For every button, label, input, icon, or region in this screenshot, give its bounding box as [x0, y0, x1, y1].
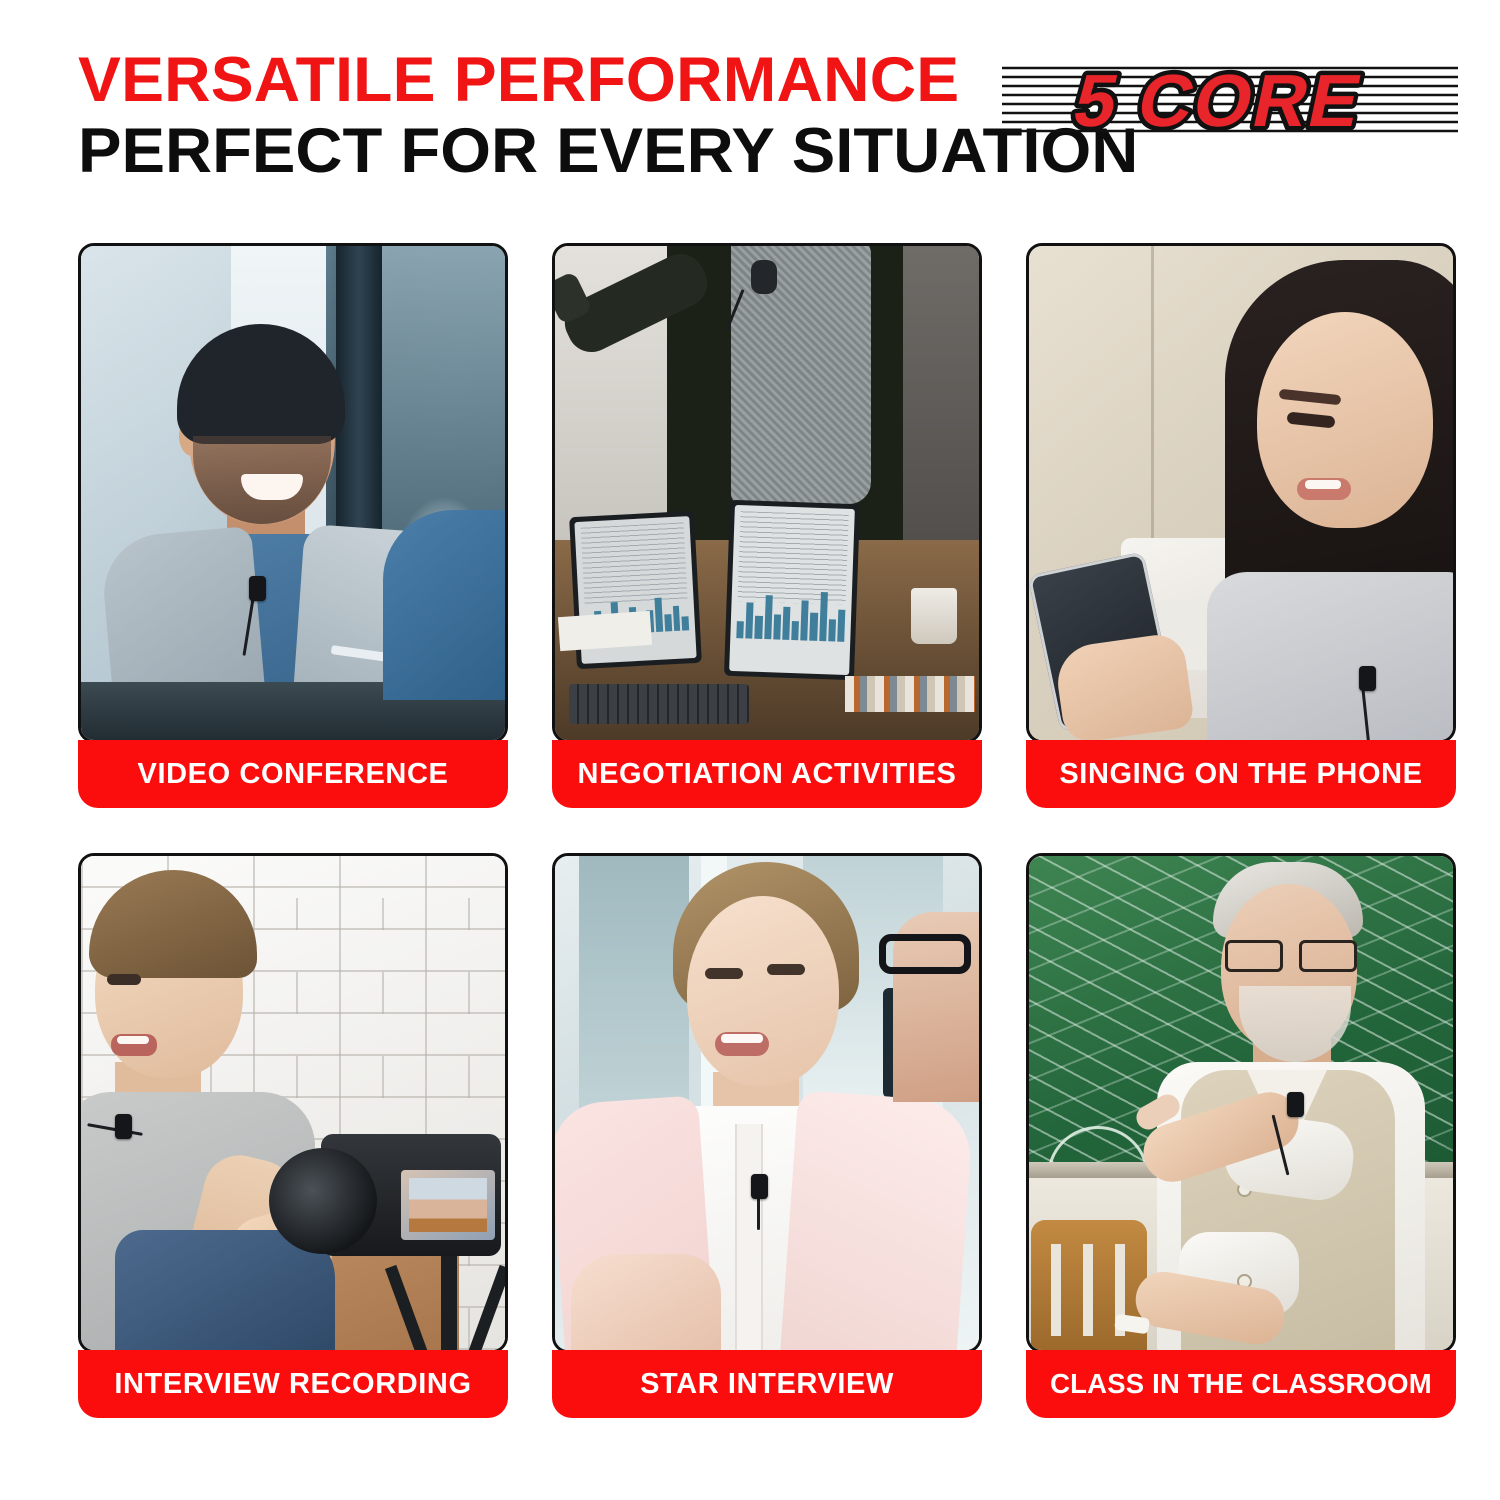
logo-word: CORE: [1131, 59, 1370, 142]
singing-on-the-phone-photo: [1026, 243, 1456, 743]
use-case-card[interactable]: SINGING ON THE PHONE: [1026, 243, 1456, 808]
caption-bar: INTERVIEW RECORDING: [78, 1350, 508, 1418]
scene-art: [555, 856, 979, 1350]
lavalier-mic-icon: [115, 1114, 132, 1139]
use-case-card[interactable]: CLASS IN THE CLASSROOM: [1026, 853, 1456, 1418]
use-case-card[interactable]: INTERVIEW RECORDING: [78, 853, 508, 1418]
lavalier-mic-icon: [751, 260, 777, 294]
lavalier-mic-icon: [249, 576, 266, 601]
interview-recording-photo: [78, 853, 508, 1353]
page-header: VERSATILE PERFORMANCE PERFECT FOR EVERY …: [0, 0, 1500, 215]
scene-art: [81, 856, 505, 1350]
caption-label: VIDEO CONFERENCE: [138, 758, 449, 791]
five-core-logo-icon: 5 CORE: [1000, 52, 1460, 152]
caption-bar: CLASS IN THE CLASSROOM: [1026, 1350, 1456, 1418]
logo-wordmark: 5 CORE: [1067, 59, 1370, 142]
use-case-card[interactable]: VIDEO CONFERENCE: [78, 243, 508, 808]
class-in-the-classroom-photo: [1026, 853, 1456, 1353]
caption-bar: STAR INTERVIEW: [552, 1350, 982, 1418]
scene-art: [555, 246, 979, 740]
caption-bar: VIDEO CONFERENCE: [78, 740, 508, 808]
use-case-card[interactable]: NEGOTIATION ACTIVITIES: [552, 243, 982, 808]
eyeglasses-icon: [879, 934, 971, 974]
lavalier-mic-icon: [1287, 1092, 1304, 1117]
lavalier-mic-icon: [751, 1174, 768, 1199]
caption-label: CLASS IN THE CLASSROOM: [1050, 1368, 1432, 1400]
scene-art: [1029, 856, 1453, 1350]
caption-bar: NEGOTIATION ACTIVITIES: [552, 740, 982, 808]
headline-primary: VERSATILE PERFORMANCE: [78, 48, 1001, 112]
caption-label: INTERVIEW RECORDING: [114, 1368, 471, 1401]
caption-bar: SINGING ON THE PHONE: [1026, 740, 1456, 808]
star-interview-photo: [552, 853, 982, 1353]
caption-label: STAR INTERVIEW: [640, 1368, 894, 1401]
headline-secondary: PERFECT FOR EVERY SITUATION: [78, 118, 1015, 184]
scene-art: [1029, 246, 1453, 740]
caption-label: SINGING ON THE PHONE: [1059, 758, 1422, 791]
logo-number: 5: [1067, 59, 1126, 142]
caption-label: NEGOTIATION ACTIVITIES: [578, 758, 957, 791]
eyeglasses-icon: [1225, 940, 1357, 966]
use-case-card[interactable]: STAR INTERVIEW: [552, 853, 982, 1418]
scene-art: [81, 246, 505, 740]
use-case-grid: VIDEO CONFERENCE: [78, 243, 1426, 1418]
video-conference-photo: [78, 243, 508, 743]
negotiation-activities-photo: [552, 243, 982, 743]
lavalier-mic-icon: [1359, 666, 1376, 691]
brand-logo: 5 CORE: [1000, 52, 1460, 152]
headline-block: VERSATILE PERFORMANCE PERFECT FOR EVERY …: [78, 48, 983, 184]
